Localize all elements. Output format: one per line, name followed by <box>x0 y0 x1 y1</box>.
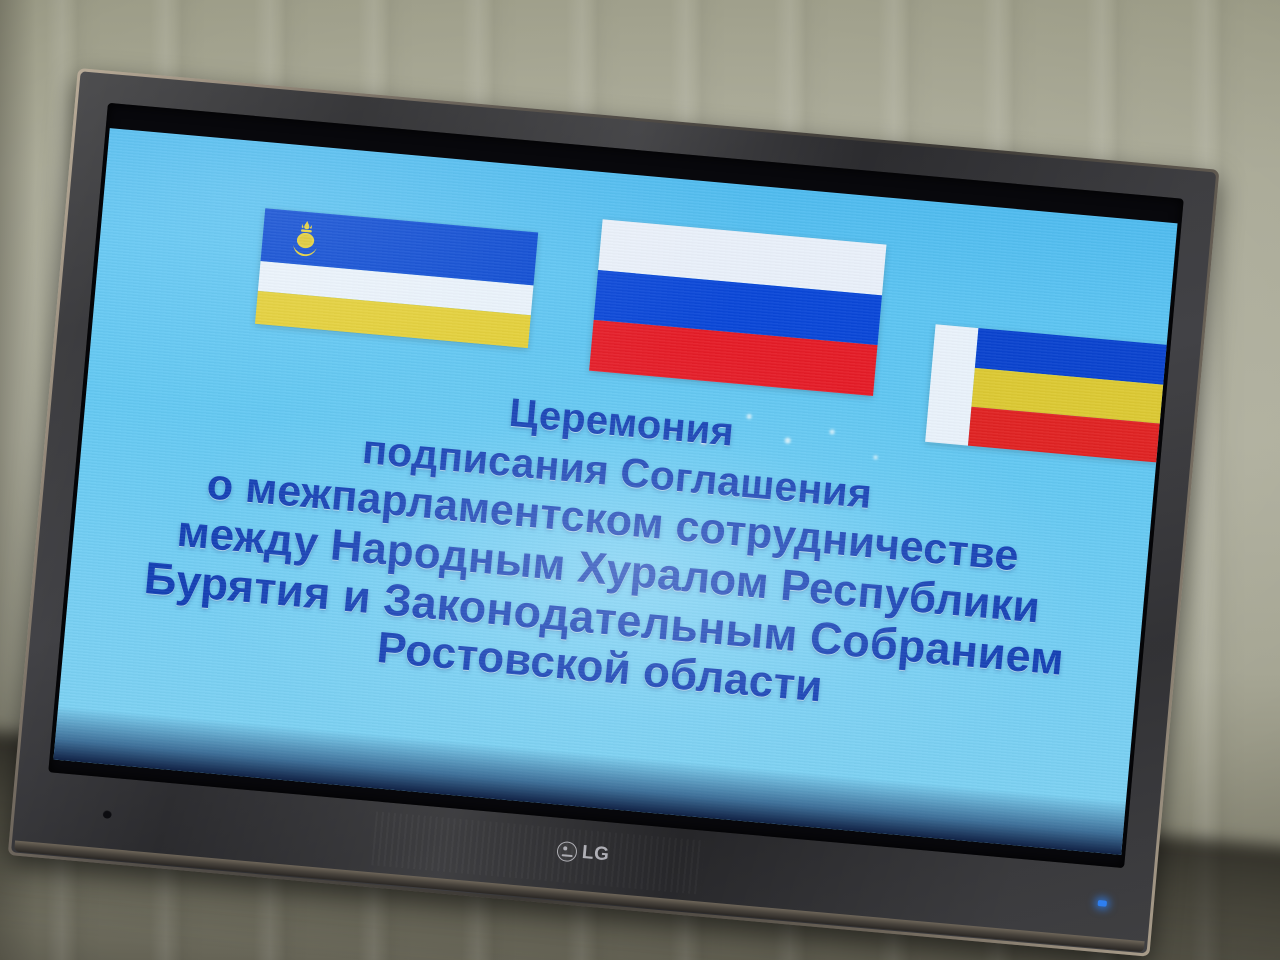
lg-logo: LG <box>556 840 610 867</box>
tv-screen[interactable]: Церемония подписания Соглашения о межпар… <box>53 128 1177 855</box>
soyombo-emblem-icon <box>287 218 325 263</box>
screen-matte: Церемония подписания Соглашения о межпар… <box>48 103 1183 868</box>
flag-buryatia <box>255 208 538 348</box>
lg-brand-label: LG <box>581 842 610 866</box>
television[interactable]: Церемония подписания Соглашения о межпар… <box>8 68 1220 957</box>
lg-mark-icon <box>556 841 578 863</box>
ir-sensor-icon <box>102 809 112 819</box>
flag-russia <box>589 219 886 396</box>
power-led-indicator <box>1098 900 1107 907</box>
